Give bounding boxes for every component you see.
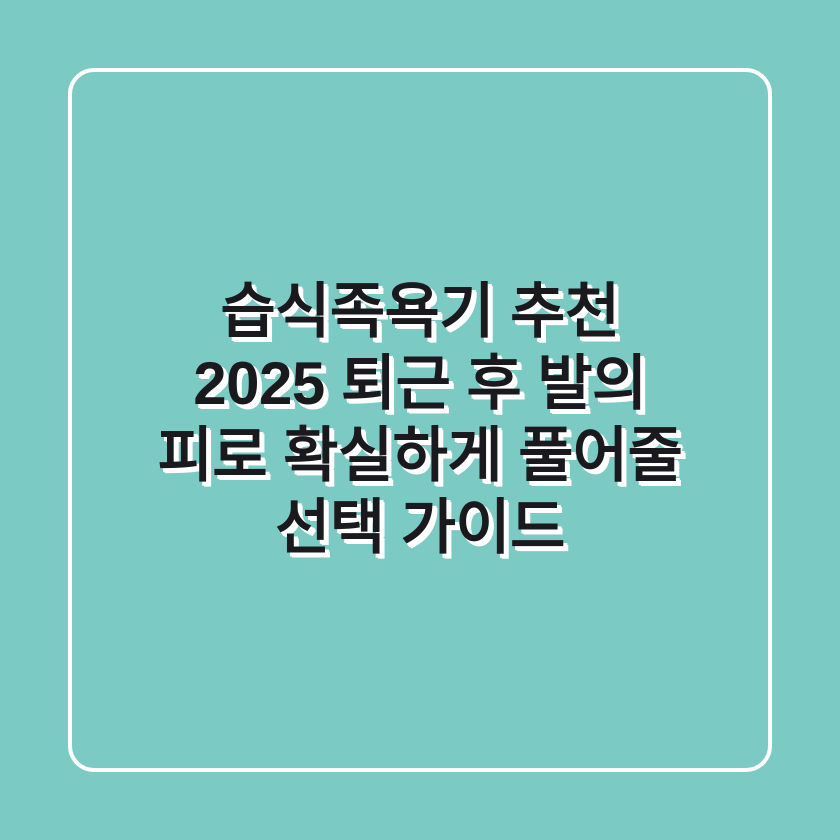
headline-line-4: 선택 가이드 [78,492,762,564]
thumbnail-canvas: 습식족욕기 추천 2025 퇴근 후 발의 피로 확실하게 풀어줄 선택 가이드 [0,0,840,840]
headline-block: 습식족욕기 추천 2025 퇴근 후 발의 피로 확실하게 풀어줄 선택 가이드 [0,0,840,840]
headline-line-1: 습식족욕기 추천 [78,276,762,348]
headline-line-3: 피로 확실하게 풀어줄 [78,420,762,492]
headline-line-2: 2025 퇴근 후 발의 [78,348,762,420]
